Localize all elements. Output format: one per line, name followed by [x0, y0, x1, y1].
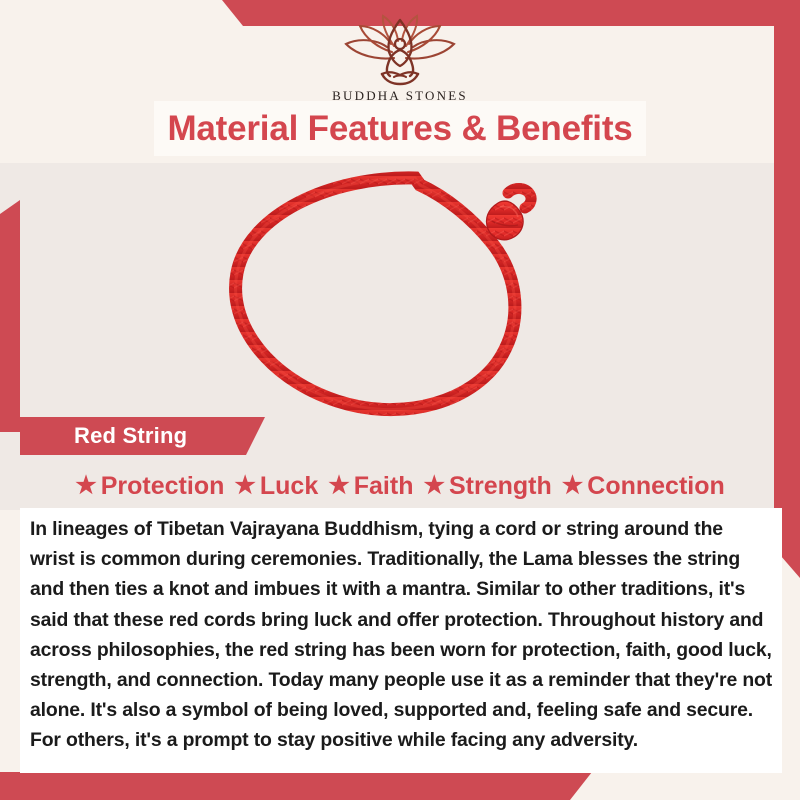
title-plate: Material Features & Benefits: [154, 101, 646, 156]
benefit-item-connection: ★ Connection: [562, 472, 725, 501]
decor-left-bar: [0, 200, 20, 432]
infographic-page: BUDDHA STONES Material Features & Benefi…: [0, 0, 800, 800]
star-icon: ★: [423, 474, 445, 498]
star-icon: ★: [75, 474, 97, 498]
description-paragraph: In lineages of Tibetan Vajrayana Buddhis…: [30, 514, 772, 756]
benefit-label: Connection: [587, 472, 725, 501]
benefits-list: ★ Protection ★ Luck ★ Faith ★ Strength ★…: [0, 466, 800, 506]
benefit-item-protection: ★ Protection: [75, 472, 224, 501]
material-label-text: Red String: [20, 423, 187, 449]
red-braided-string-bracelet-icon: [0, 163, 800, 423]
page-title: Material Features & Benefits: [167, 109, 632, 149]
star-icon: ★: [562, 474, 584, 498]
star-icon: ★: [234, 474, 256, 498]
product-image: [0, 163, 800, 423]
description-card: In lineages of Tibetan Vajrayana Buddhis…: [20, 508, 782, 773]
benefit-item-faith: ★ Faith: [328, 472, 413, 501]
benefit-label: Luck: [260, 472, 318, 501]
benefit-label: Faith: [354, 472, 414, 501]
benefit-item-strength: ★ Strength: [423, 472, 551, 501]
benefit-label: Protection: [101, 472, 225, 501]
material-label-banner: Red String: [20, 417, 265, 455]
lotus-meditation-icon: [334, 14, 466, 86]
benefit-item-luck: ★ Luck: [234, 472, 318, 501]
star-icon: ★: [328, 474, 350, 498]
benefit-label: Strength: [449, 472, 552, 501]
brand-logo: BUDDHA STONES: [0, 14, 800, 104]
